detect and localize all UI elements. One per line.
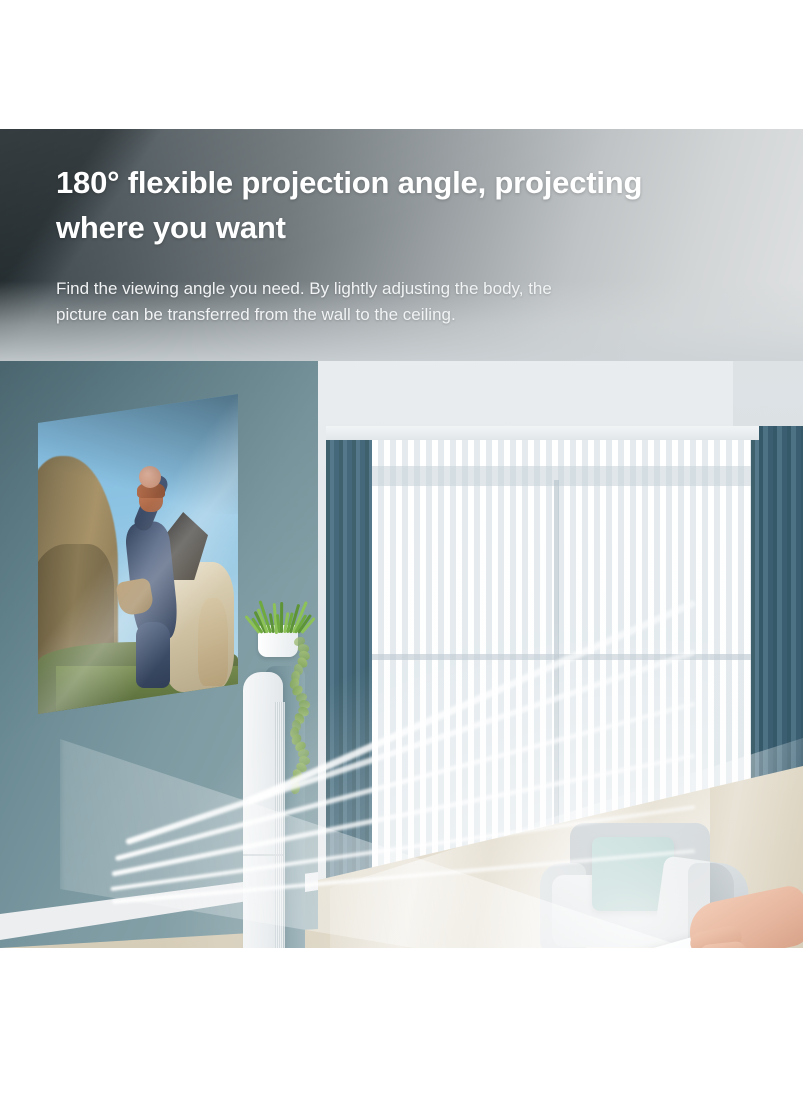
tower-vent-seam: [275, 702, 285, 948]
projected-character-leg: [136, 622, 170, 688]
tower-seam-line: [243, 854, 283, 856]
curtain-drape-left: [326, 440, 372, 896]
potted-plant: [256, 597, 304, 633]
product-photo: [0, 129, 803, 948]
projected-figure-2: [198, 598, 228, 686]
sheer-header-band: [360, 466, 760, 486]
page-subtext: Find the viewing angle you need. By ligh…: [56, 276, 716, 328]
hand-adjusting-projector: [684, 895, 803, 948]
window-rail: [360, 654, 760, 660]
projected-image: [38, 394, 238, 714]
projected-character-hand: [139, 466, 161, 488]
trailing-vine: [290, 637, 308, 795]
page-root: 180° flexible projection angle, projecti…: [0, 0, 803, 1096]
page-headline: 180° flexible projection angle, projecti…: [56, 160, 756, 250]
